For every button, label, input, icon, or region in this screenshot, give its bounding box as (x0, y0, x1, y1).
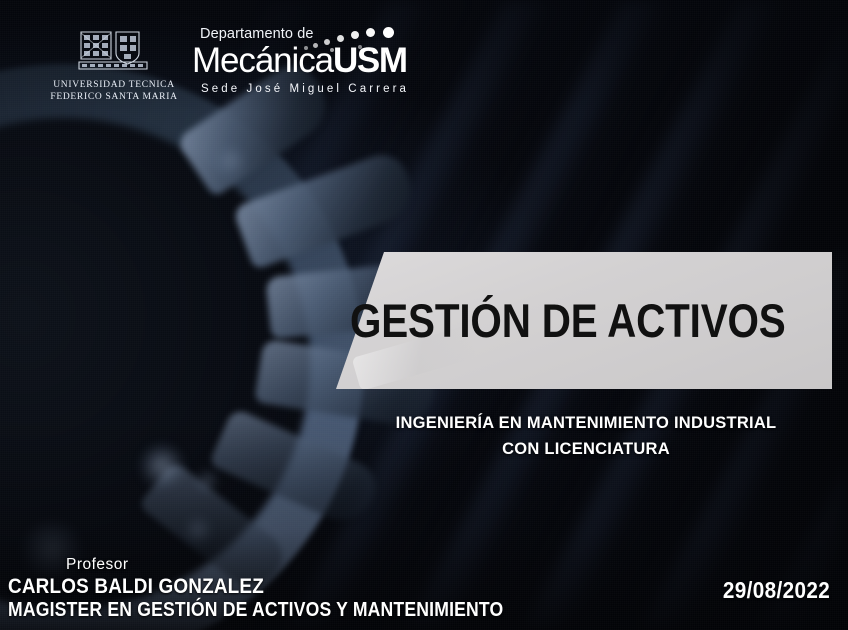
slide-title-wrapper: GESTIÓN DE ACTIVOS (336, 252, 832, 389)
subtitle-line-1: INGENIERÍA EN MANTENIMIENTO INDUSTRIAL (336, 410, 836, 436)
slide-subtitle: INGENIERÍA EN MANTENIMIENTO INDUSTRIAL C… (336, 410, 836, 462)
instructor-role-label: Profesor (66, 555, 571, 574)
university-logo: UNIVERSIDAD TECNICA FEDERICO SANTA MARIA (46, 29, 182, 103)
slide-date: 29/08/2022 (723, 577, 830, 604)
department-dots-decoration (304, 27, 424, 53)
instructor-name: CARLOS BALDI GONZALEZ (8, 574, 503, 598)
instructor-block: Profesor CARLOS BALDI GONZALEZ MAGISTER … (8, 555, 571, 622)
university-logo-line-2: FEDERICO SANTA MARIA (46, 92, 182, 104)
logo-bar: UNIVERSIDAD TECNICA FEDERICO SANTA MARIA… (0, 0, 848, 110)
usm-crest-icon (77, 29, 151, 75)
university-logo-line-1: UNIVERSIDAD TECNICA (46, 80, 182, 92)
instructor-degree: MAGISTER EN GESTIÓN DE ACTIVOS Y MANTENI… (8, 598, 503, 622)
department-logo: Departamento de MecánicaUSM Sede José Mi… (192, 26, 422, 96)
subtitle-line-2: CON LICENCIATURA (336, 436, 836, 462)
slide-title: GESTIÓN DE ACTIVOS (350, 297, 786, 344)
presentation-title-slide: UNIVERSIDAD TECNICA FEDERICO SANTA MARIA… (0, 0, 848, 630)
department-campus: Sede José Miguel Carrera (201, 82, 422, 96)
